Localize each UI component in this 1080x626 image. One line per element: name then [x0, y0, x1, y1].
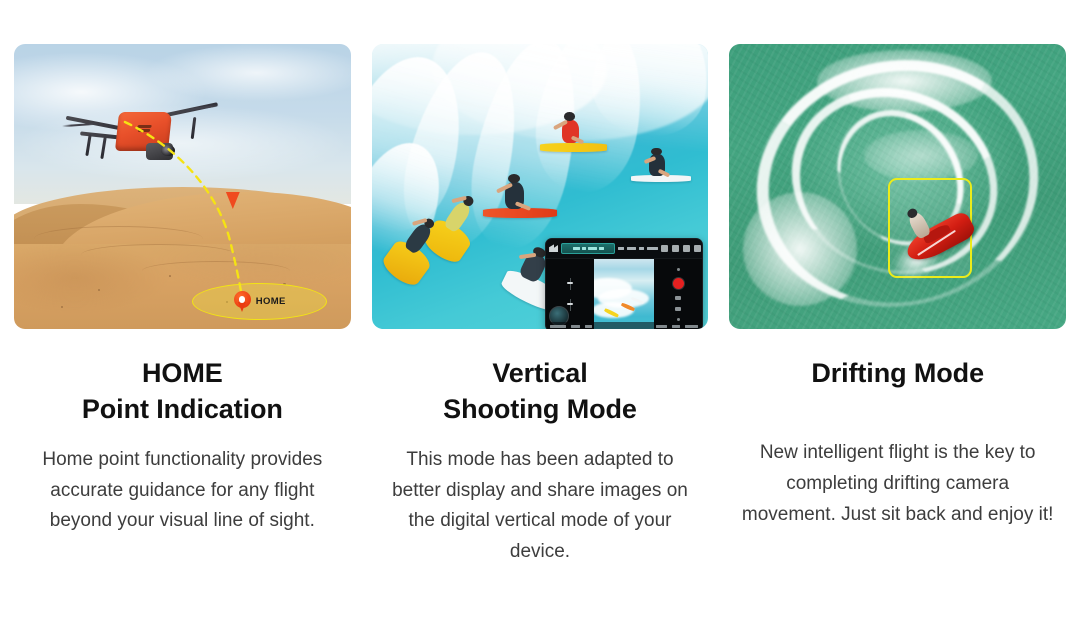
- device-body: [546, 259, 702, 329]
- map-pin-inner-dot: [239, 296, 246, 303]
- flight-path-arrowhead: [226, 192, 240, 209]
- device-bottom-bar: [546, 322, 702, 329]
- home-point-marker: HOME: [192, 283, 327, 320]
- device-tool-icons[interactable]: [661, 245, 701, 252]
- surfer: [540, 112, 607, 163]
- card-description-vertical: This mode has been adapted to better dis…: [380, 445, 700, 568]
- home-marker-label: HOME: [256, 296, 286, 307]
- photo-mode-dot[interactable]: [677, 268, 680, 271]
- exposure-icon[interactable]: [661, 245, 668, 252]
- card-title-home: HOME Point Indication: [82, 355, 283, 428]
- card-title-drifting: Drifting Mode: [811, 355, 984, 391]
- zoom-slider[interactable]: [570, 278, 571, 290]
- card-title-line2: Point Indication: [82, 391, 283, 427]
- gallery-button[interactable]: [675, 307, 681, 311]
- telemetry-status-pill[interactable]: [561, 243, 615, 254]
- card-description-drifting: New intelligent flight is the key to com…: [738, 438, 1058, 530]
- vertical-video-preview: [594, 259, 653, 329]
- flight-path-dashed-line: [125, 122, 244, 308]
- wake-foam-patch: [817, 50, 992, 113]
- card-title-line1: Drifting Mode: [811, 355, 984, 391]
- grid-icon[interactable]: [683, 245, 690, 252]
- card-title-vertical: Vertical Shooting Mode: [443, 355, 637, 428]
- mode-button[interactable]: [675, 296, 681, 300]
- surfer: [631, 147, 692, 193]
- surfer-head: [508, 174, 520, 183]
- feature-card-vertical-shooting: Vertical Shooting Mode This mode has bee…: [372, 44, 709, 626]
- tilt-slider[interactable]: [570, 299, 571, 311]
- map-pin-icon: [234, 291, 251, 313]
- controller-tablet-overlay[interactable]: [545, 238, 703, 329]
- card-description-home: Home point functionality provides accura…: [22, 445, 342, 537]
- panel-drifting-mode-image: [729, 44, 1066, 329]
- telemetry-text: [573, 247, 604, 250]
- histogram-icon[interactable]: [694, 245, 701, 252]
- surfboard: [631, 175, 692, 182]
- feature-card-drifting-mode: Drifting Mode New intelligent flight is …: [729, 44, 1066, 626]
- wake-foam-patch: [743, 192, 857, 306]
- device-right-controls[interactable]: [654, 259, 702, 329]
- panel-home-point-image: HOME: [14, 44, 351, 329]
- white-balance-icon[interactable]: [672, 245, 679, 252]
- device-left-controls[interactable]: [546, 259, 594, 329]
- wake-foam-patch: [864, 130, 978, 181]
- card-title-line1: Vertical: [443, 355, 637, 391]
- feature-card-grid: HOME HOME Point Indication Home point fu…: [0, 0, 1080, 626]
- device-top-bar: [546, 239, 702, 259]
- device-status-readout: [618, 247, 658, 250]
- card-title-line2: Shooting Mode: [443, 391, 637, 427]
- panel-vertical-shooting-image: [372, 44, 709, 329]
- card-title-line1: HOME: [82, 355, 283, 391]
- record-button[interactable]: [673, 278, 684, 289]
- device-home-icon[interactable]: [549, 244, 558, 252]
- surfer-head: [651, 148, 661, 156]
- feature-card-home-point: HOME HOME Point Indication Home point fu…: [14, 44, 351, 626]
- surfboard: [540, 143, 607, 152]
